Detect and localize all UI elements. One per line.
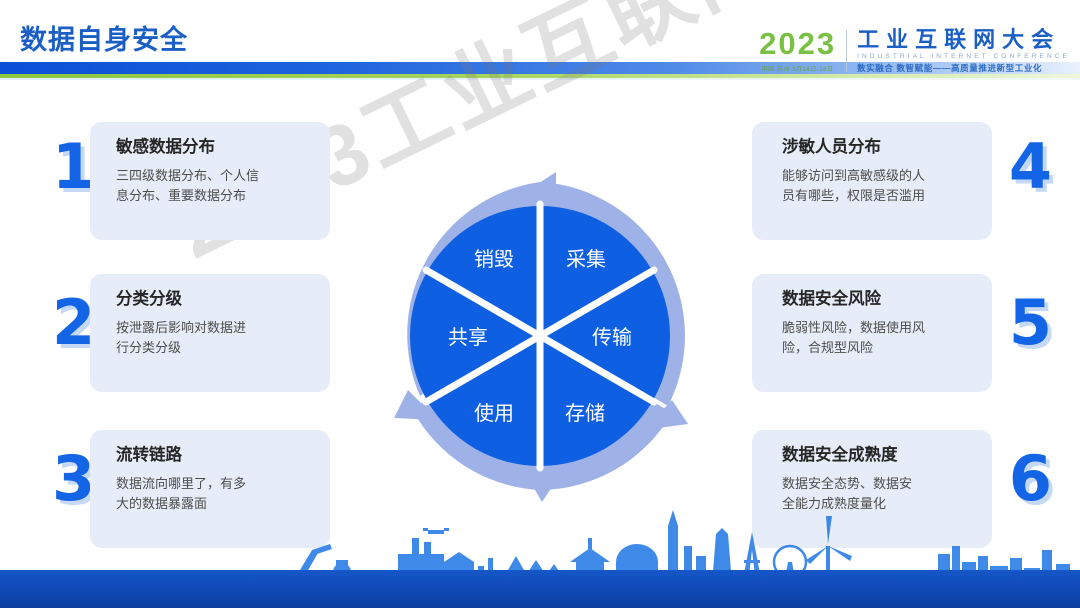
card-title: 数据安全成熟度: [782, 446, 966, 466]
card-body: 能够访问到高敏感级的人 员有哪些，权限是否滥用: [782, 166, 966, 206]
card-sensitive-personnel-distribution[interactable]: 涉敏人员分布 能够访问到高敏感级的人 员有哪些，权限是否滥用: [752, 122, 992, 240]
card-body-line-2: 险，合规型风险: [782, 338, 966, 358]
wheel-label-5: 销毁: [474, 248, 514, 271]
card-title: 流转链路: [116, 446, 316, 466]
card-body-line-2: 行分类分级: [116, 338, 316, 358]
card-number-5: 5: [1009, 292, 1052, 354]
logo-text-block: 工业互联网大会 INDUSTRIAL INTERNET CONFERENCE 数…: [857, 28, 1070, 74]
card-classification-grading[interactable]: 分类分级 按泄露后影响对数据进 行分类分级: [90, 274, 330, 392]
page-title: 数据自身安全: [20, 18, 188, 57]
logo-date-location: 中国·苏州 9月14日-16日: [759, 64, 836, 73]
conference-logo: 2023 中国·苏州 9月14日-16日 工业互联网大会 INDUSTRIAL …: [759, 28, 1070, 74]
card-body: 脆弱性风险，数据使用风 险，合规型风险: [782, 318, 966, 358]
wheel-label-4: 共享: [448, 326, 488, 349]
card-body-line-1: 数据安全态势、数据安: [782, 474, 966, 494]
card-title: 敏感数据分布: [116, 138, 316, 158]
card-body-line-1: 三四级数据分布、个人信: [116, 166, 316, 186]
slide-root: 数据自身安全 2023 中国·苏州 9月14日-16日 工业互联网大会 INDU…: [0, 0, 1080, 608]
wheel-label-1: 传输: [592, 326, 632, 349]
card-body-line-1: 脆弱性风险，数据使用风: [782, 318, 966, 338]
card-body: 三四级数据分布、个人信 息分布、重要数据分布: [116, 166, 316, 206]
data-lifecycle-wheel: 采集 传输 存储 使用 共享 销毁: [372, 168, 708, 504]
card-title: 涉敏人员分布: [782, 138, 966, 158]
header-accent-bar-light: [0, 78, 1080, 80]
wheel-label-2: 存储: [565, 402, 605, 425]
card-data-security-risk[interactable]: 数据安全风险 脆弱性风险，数据使用风 险，合规型风险: [752, 274, 992, 392]
logo-year: 2023: [759, 28, 836, 59]
logo-slogan: 数实融合 数智赋能——高质量推进新型工业化: [857, 62, 1070, 74]
logo-conference-name: 工业互联网大会: [857, 28, 1070, 51]
card-title: 分类分级: [116, 290, 316, 310]
card-body-line-2: 员有哪些，权限是否滥用: [782, 186, 966, 206]
card-body-line-1: 能够访问到高敏感级的人: [782, 166, 966, 186]
card-number-2: 2: [52, 292, 95, 354]
logo-divider: [846, 30, 847, 72]
drone-icon: [428, 530, 444, 534]
card-title: 数据安全风险: [782, 290, 966, 310]
card-sensitive-data-distribution[interactable]: 敏感数据分布 三四级数据分布、个人信 息分布、重要数据分布: [90, 122, 330, 240]
card-number-1: 1: [52, 136, 95, 198]
wheel-label-0: 采集: [566, 248, 606, 271]
wheel-label-3: 使用: [474, 402, 514, 425]
card-body-line-2: 息分布、重要数据分布: [116, 186, 316, 206]
wheel-svg: 采集 传输 存储 使用 共享 销毁: [372, 168, 708, 504]
card-body: 按泄露后影响对数据进 行分类分级: [116, 318, 316, 358]
logo-conference-name-en: INDUSTRIAL INTERNET CONFERENCE: [857, 53, 1070, 60]
logo-year-block: 2023 中国·苏州 9月14日-16日: [759, 28, 846, 73]
footer-band: [0, 570, 1080, 608]
card-body-line-1: 按泄露后影响对数据进: [116, 318, 316, 338]
card-number-4: 4: [1009, 136, 1052, 198]
card-body-line-1: 数据流向哪里了，有多: [116, 474, 316, 494]
